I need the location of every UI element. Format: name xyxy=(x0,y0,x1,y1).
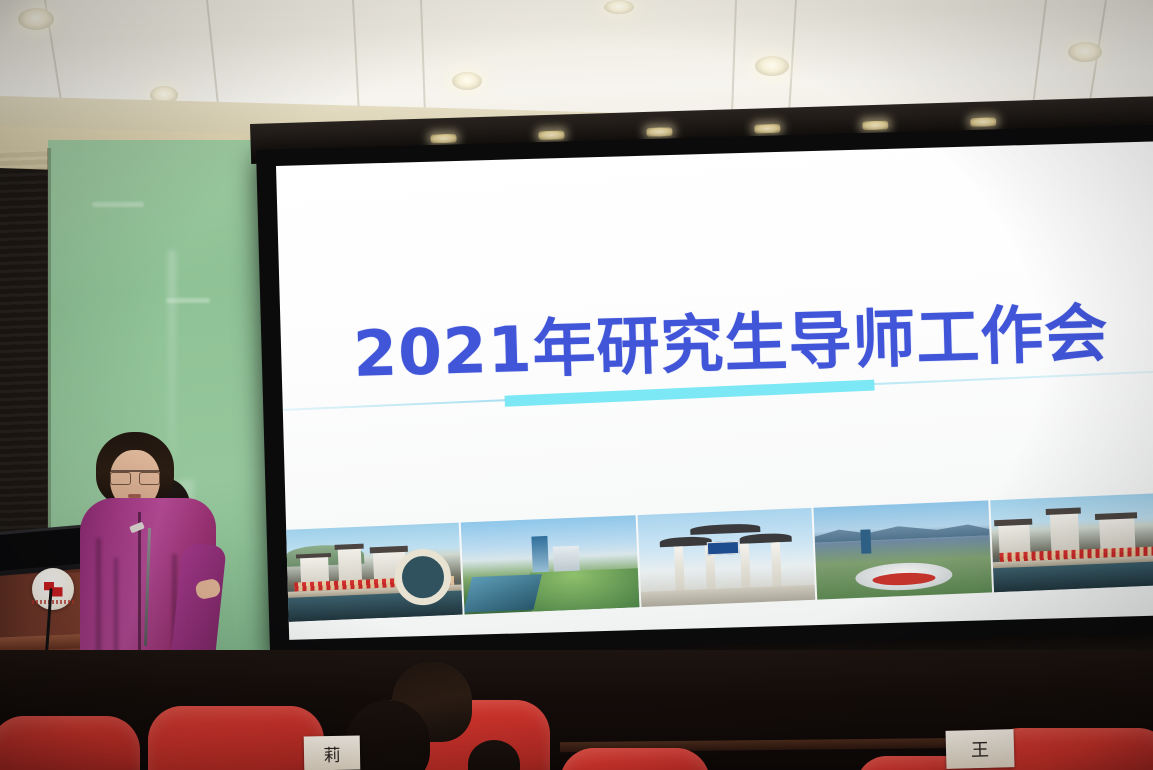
spotlight-icon xyxy=(970,117,996,127)
name-card: 莉 xyxy=(304,736,361,770)
downlight-icon xyxy=(604,0,634,14)
downlight-icon xyxy=(452,72,482,90)
chair[interactable] xyxy=(0,716,140,770)
projection-screen[interactable]: 2021年研究生导师工作会 xyxy=(276,141,1153,639)
podium-emblem-icon xyxy=(32,568,74,610)
downlight-icon xyxy=(1068,42,1102,62)
slide-photo-riverside-street xyxy=(990,493,1153,592)
slide-photo-strip xyxy=(285,493,1153,622)
name-card: 王 xyxy=(946,729,1015,769)
downlight-icon xyxy=(755,56,789,76)
spotlight-icon xyxy=(754,124,780,134)
glasses-icon xyxy=(110,470,160,483)
spotlight-icon xyxy=(646,127,672,137)
spotlight-icon xyxy=(430,134,456,144)
slide-photo-paifang xyxy=(637,508,815,607)
slide-photo-city-plaza xyxy=(814,500,992,599)
wall-reflection xyxy=(92,202,144,207)
downlight-icon xyxy=(18,8,54,30)
chair[interactable] xyxy=(148,706,324,770)
chair[interactable] xyxy=(560,748,710,770)
spotlight-icon xyxy=(538,130,564,140)
spotlight-icon xyxy=(862,121,888,131)
slide-photo-watertown xyxy=(285,523,463,622)
slide-photo-city-river xyxy=(461,515,639,614)
conference-photo: 2021年研究生导师工作会 xyxy=(0,0,1153,770)
